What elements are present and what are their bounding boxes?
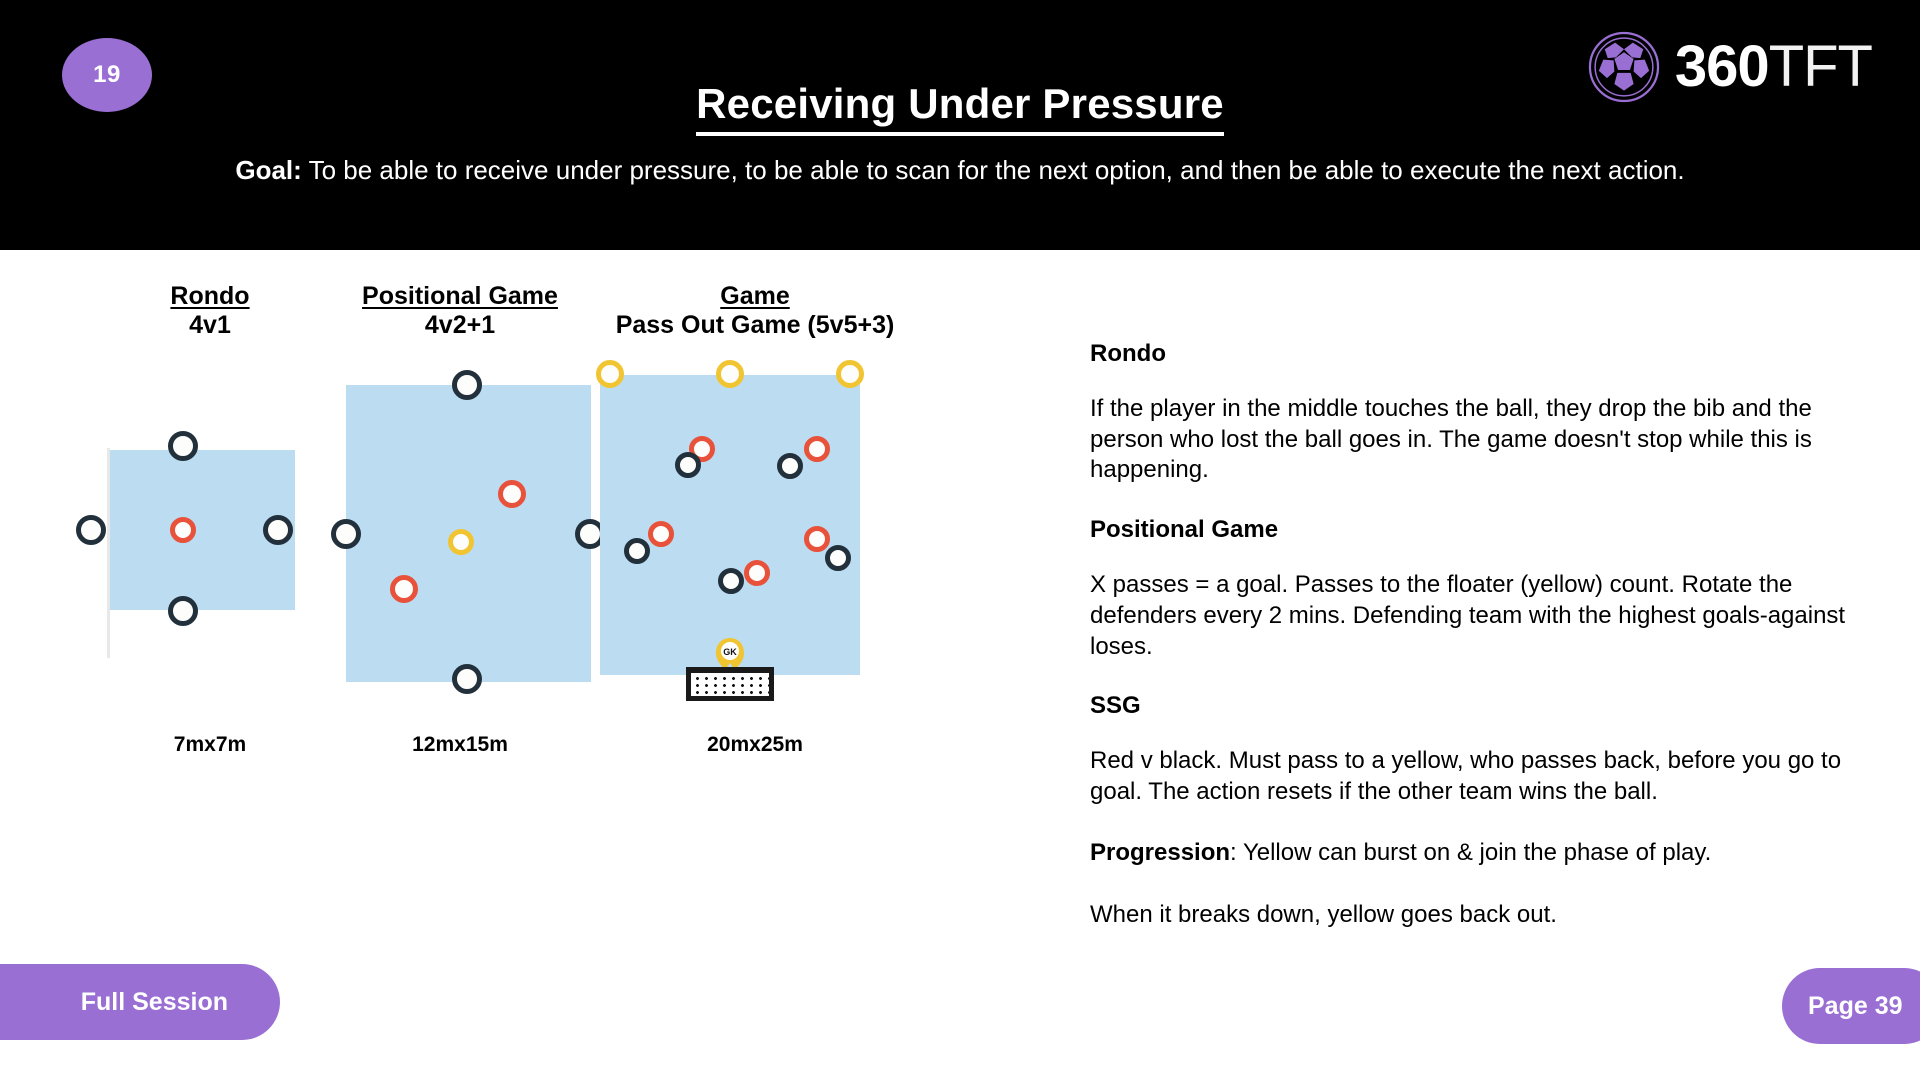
diagram-positional-subtitle: 4v2+1 <box>310 311 610 340</box>
diagrams-area: Rondo 4v1 7mx7m Positional Game 4v2+1 <box>0 250 1090 950</box>
player-black-1 <box>675 452 701 478</box>
player-black-4 <box>825 545 851 571</box>
logo-tft-text: TFT <box>1769 34 1872 99</box>
player-black-left <box>331 519 361 549</box>
player-yellow-right <box>836 360 864 388</box>
note-heading-positional: Positional Game <box>1090 516 1880 544</box>
note-heading-ssg: SSG <box>1090 692 1880 720</box>
brand-logo: 360TFT <box>1587 30 1872 104</box>
note-body-ssg: Red v black. Must pass to a yellow, who … <box>1090 746 1880 807</box>
game-pitch <box>600 375 860 675</box>
slide-page: 19 Receiving Under Pressure Goal: To be … <box>0 0 1920 1080</box>
note-body-positional: X passes = a goal. Passes to the floater… <box>1090 570 1880 662</box>
player-black-2 <box>777 453 803 479</box>
progression-label: Progression <box>1090 839 1230 866</box>
player-yellow-floater <box>448 529 474 555</box>
page-indicator[interactable]: Page 39 <box>1782 968 1920 1044</box>
player-black-3 <box>624 538 650 564</box>
goal-statement: Goal: To be able to receive under pressu… <box>0 155 1920 186</box>
slide-header: 19 Receiving Under Pressure Goal: To be … <box>0 0 1920 250</box>
player-black-right <box>263 515 293 545</box>
player-black-bottom <box>452 664 482 694</box>
player-red-middle <box>170 517 196 543</box>
note-progression: Progression: Yellow can burst on & join … <box>1090 838 1880 869</box>
full-session-label: Full Session <box>81 988 228 1017</box>
player-black-top <box>452 370 482 400</box>
goalkeeper-icon: GK <box>715 637 745 671</box>
progression-text: : Yellow can burst on & join the phase o… <box>1230 839 1711 866</box>
page-title-text: Receiving Under Pressure <box>696 80 1224 136</box>
note-body-rondo: If the player in the middle touches the … <box>1090 394 1880 486</box>
diagram-positional-heading: Positional Game 4v2+1 <box>310 282 610 341</box>
goal-text: To be able to receive under pressure, to… <box>309 155 1685 185</box>
player-red-upper <box>498 480 526 508</box>
diagram-game-heading: Game Pass Out Game (5v5+3) <box>605 282 905 341</box>
full-session-button[interactable]: Full Session <box>0 964 280 1040</box>
diagram-rondo-title: Rondo <box>170 282 249 310</box>
goal-net <box>686 667 774 701</box>
diagram-positional-title: Positional Game <box>362 282 558 310</box>
player-red-4 <box>804 526 830 552</box>
diagram-game-subtitle: Pass Out Game (5v5+3) <box>605 311 905 340</box>
player-black-bottom <box>168 596 198 626</box>
soccer-ball-icon <box>1587 30 1661 104</box>
diagram-positional-dimensions: 12mx15m <box>310 733 610 757</box>
goal-net-mesh <box>691 673 769 696</box>
player-black-top <box>168 431 198 461</box>
diagram-pass-out-game: Game Pass Out Game (5v5+3) <box>605 250 905 950</box>
coaching-notes-panel: Rondo If the player in the middle touche… <box>1090 340 1880 961</box>
player-red-lower <box>390 575 418 603</box>
player-black-left <box>76 515 106 545</box>
diagram-game-dimensions: 20mx25m <box>605 733 905 757</box>
player-red-3 <box>648 521 674 547</box>
player-red-5 <box>744 560 770 586</box>
player-yellow-center <box>716 360 744 388</box>
goal-label: Goal: <box>235 155 301 185</box>
player-red-2 <box>804 436 830 462</box>
goalkeeper-label: GK <box>723 647 737 657</box>
diagram-game-title: Game <box>720 282 789 310</box>
logo-wordmark: 360TFT <box>1675 38 1872 96</box>
note-heading-rondo: Rondo <box>1090 340 1880 368</box>
logo-360-text: 360 <box>1675 34 1769 99</box>
diagram-positional-game: Positional Game 4v2+1 12mx15m <box>310 250 610 950</box>
page-indicator-label: Page 39 <box>1808 992 1903 1021</box>
player-yellow-left <box>596 360 624 388</box>
player-black-5 <box>718 568 744 594</box>
note-closing: When it breaks down, yellow goes back ou… <box>1090 900 1880 931</box>
